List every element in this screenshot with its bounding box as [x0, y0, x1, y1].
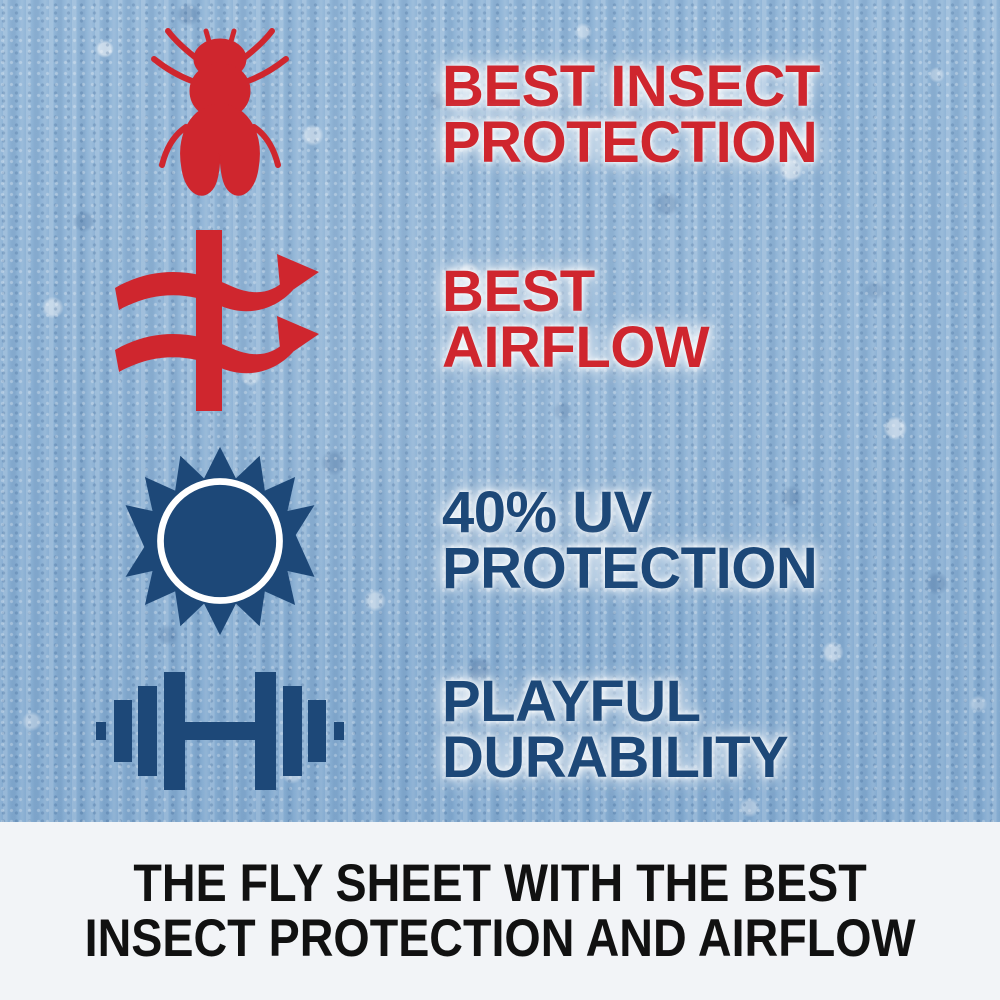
icon-cell-insect-protection	[0, 23, 440, 208]
icon-cell-durability	[0, 660, 440, 800]
text-cell-airflow: BEST AIRFLOW	[440, 264, 1000, 375]
icon-cell-uv-protection	[0, 445, 440, 637]
sun-uv-icon	[122, 445, 318, 637]
feature-row-durability: PLAYFUL DURABILITY	[0, 655, 1000, 805]
text-cell-uv-protection: 40% UV PROTECTION	[440, 485, 1000, 596]
text-cell-insect-protection: BEST INSECT PROTECTION	[440, 59, 1000, 170]
airflow-arrows-icon	[113, 228, 328, 413]
icon-cell-airflow	[0, 228, 440, 413]
feature-label-airflow: BEST AIRFLOW	[442, 264, 1000, 375]
infographic-poster: BEST INSECT PROTECTION BEST AIRFLOW	[0, 0, 1000, 1000]
feature-label-durability: PLAYFUL DURABILITY	[442, 674, 1000, 785]
feature-label-insect-protection: BEST INSECT PROTECTION	[442, 59, 1000, 170]
caption-headline: THE FLY SHEET WITH THE BEST INSECT PROTE…	[85, 856, 916, 966]
caption-band: THE FLY SHEET WITH THE BEST INSECT PROTE…	[0, 822, 1000, 1000]
fly-icon	[140, 23, 300, 208]
feature-row-airflow: BEST AIRFLOW	[0, 225, 1000, 415]
dumbbell-icon	[94, 660, 346, 800]
feature-row-insect-protection: BEST INSECT PROTECTION	[0, 20, 1000, 210]
text-cell-durability: PLAYFUL DURABILITY	[440, 674, 1000, 785]
feature-row-uv-protection: 40% UV PROTECTION	[0, 443, 1000, 638]
feature-label-uv-protection: 40% UV PROTECTION	[442, 485, 1000, 596]
